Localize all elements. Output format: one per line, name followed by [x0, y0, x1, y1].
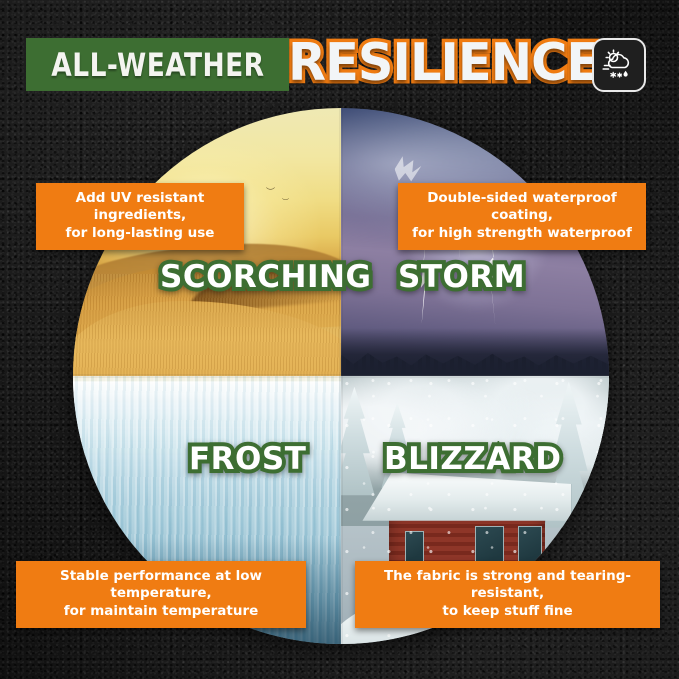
- label-scorching: SCORCHING: [160, 262, 371, 293]
- callout-scorching: Add UV resistant ingredients, for long-l…: [36, 183, 244, 250]
- title-banner: ALL-WEATHER: [26, 38, 289, 91]
- header: ALL-WEATHER RESILIENCE: [0, 30, 679, 100]
- title-all-weather: ALL-WEATHER: [51, 46, 264, 84]
- callout-frost: Stable performance at low temperature, f…: [16, 561, 306, 628]
- bird-icon: ︶: [282, 199, 289, 206]
- sun-cloud-rain-snow-icon: [600, 46, 638, 84]
- label-frost: FROST: [189, 444, 306, 475]
- callout-storm: Double-sided waterproof coating, for hig…: [398, 183, 646, 250]
- storm-horizon: [341, 328, 609, 376]
- bird-icon: ︶: [266, 188, 275, 197]
- callout-blizzard: The fabric is strong and tearing-resista…: [355, 561, 660, 628]
- title-resilience: RESILIENCE: [288, 28, 599, 98]
- label-storm: STORM: [398, 262, 525, 293]
- label-blizzard: BLIZZARD: [384, 444, 561, 475]
- product-feature-poster: ALL-WEATHER RESILIENCE: [0, 0, 679, 679]
- weather-badge: [592, 38, 646, 92]
